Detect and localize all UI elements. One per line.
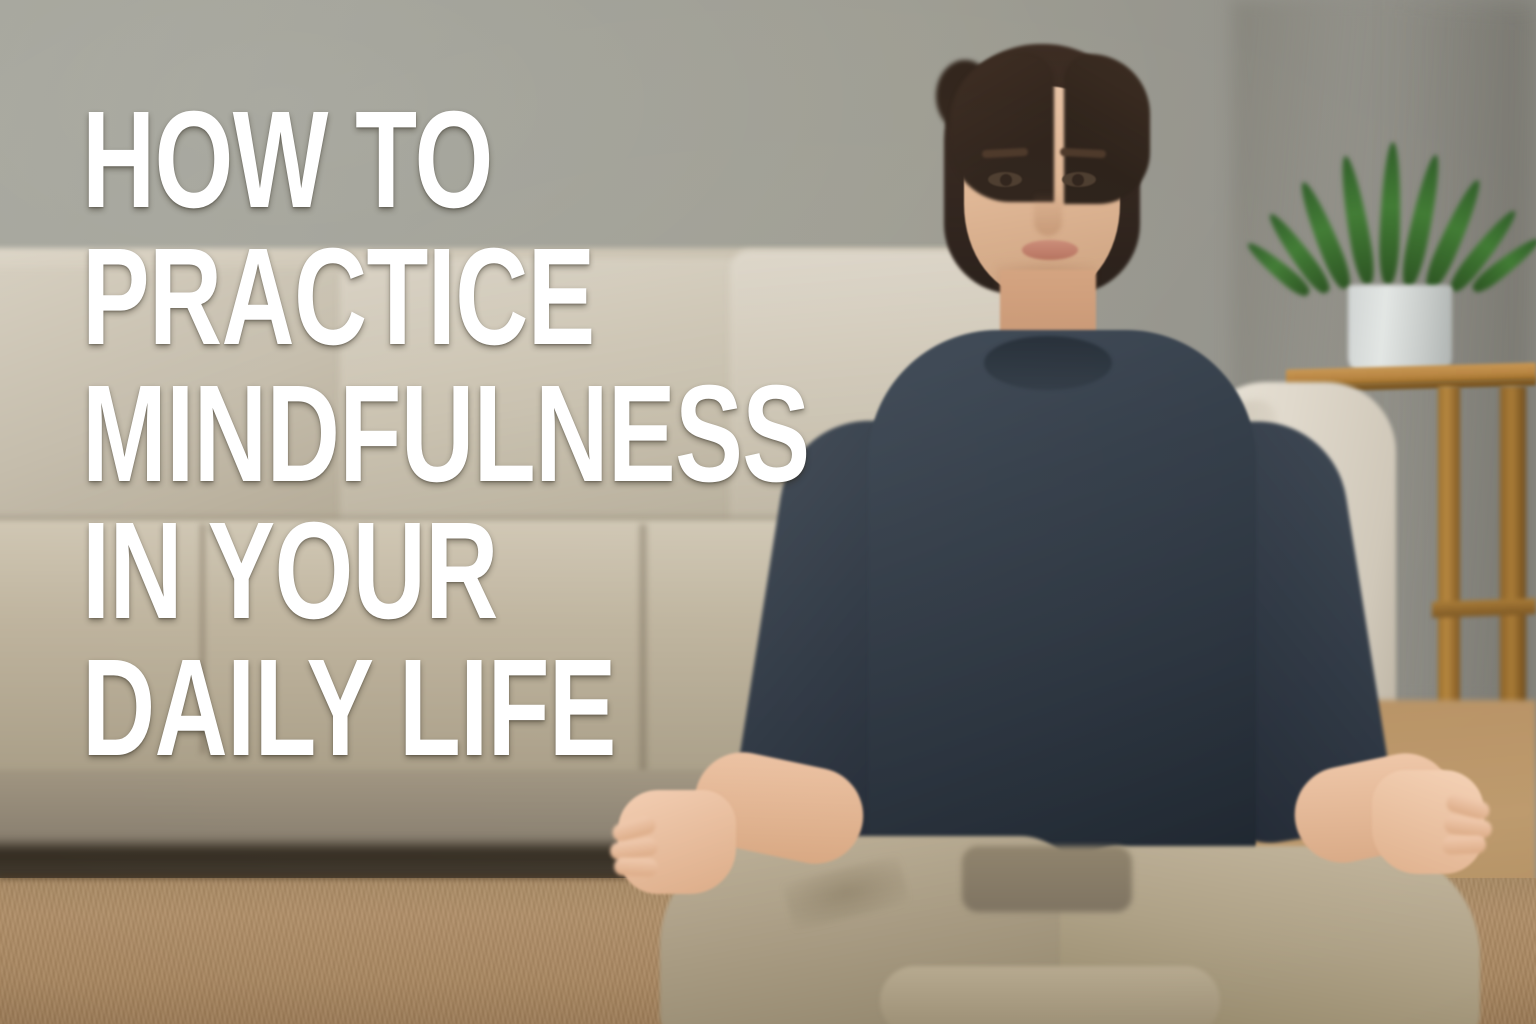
pupil-left <box>1000 174 1012 186</box>
hero-graphic: HOW TO PRACTICE MINDFULNESS IN YOUR DAIL… <box>0 0 1536 1024</box>
torso-sweater <box>868 330 1256 890</box>
pupil-right <box>1072 174 1084 186</box>
left-hand <box>618 790 736 894</box>
lips <box>1022 240 1078 260</box>
headline-line-5: DAILY LIFE <box>82 640 699 777</box>
headline-overlay: HOW TO PRACTICE MINDFULNESS IN YOUR DAIL… <box>82 92 922 777</box>
nose <box>1034 192 1062 236</box>
headline-line-3: MINDFULNESS <box>82 366 702 503</box>
lap-shadow <box>962 846 1132 912</box>
headline-line-2: PRACTICE <box>82 229 699 366</box>
sweater-collar <box>984 336 1112 390</box>
shin-fold <box>880 966 1220 1024</box>
headline-line-1: HOW TO <box>82 92 699 229</box>
headline-line-4: IN YOUR <box>82 503 699 640</box>
right-hand <box>1372 770 1484 874</box>
